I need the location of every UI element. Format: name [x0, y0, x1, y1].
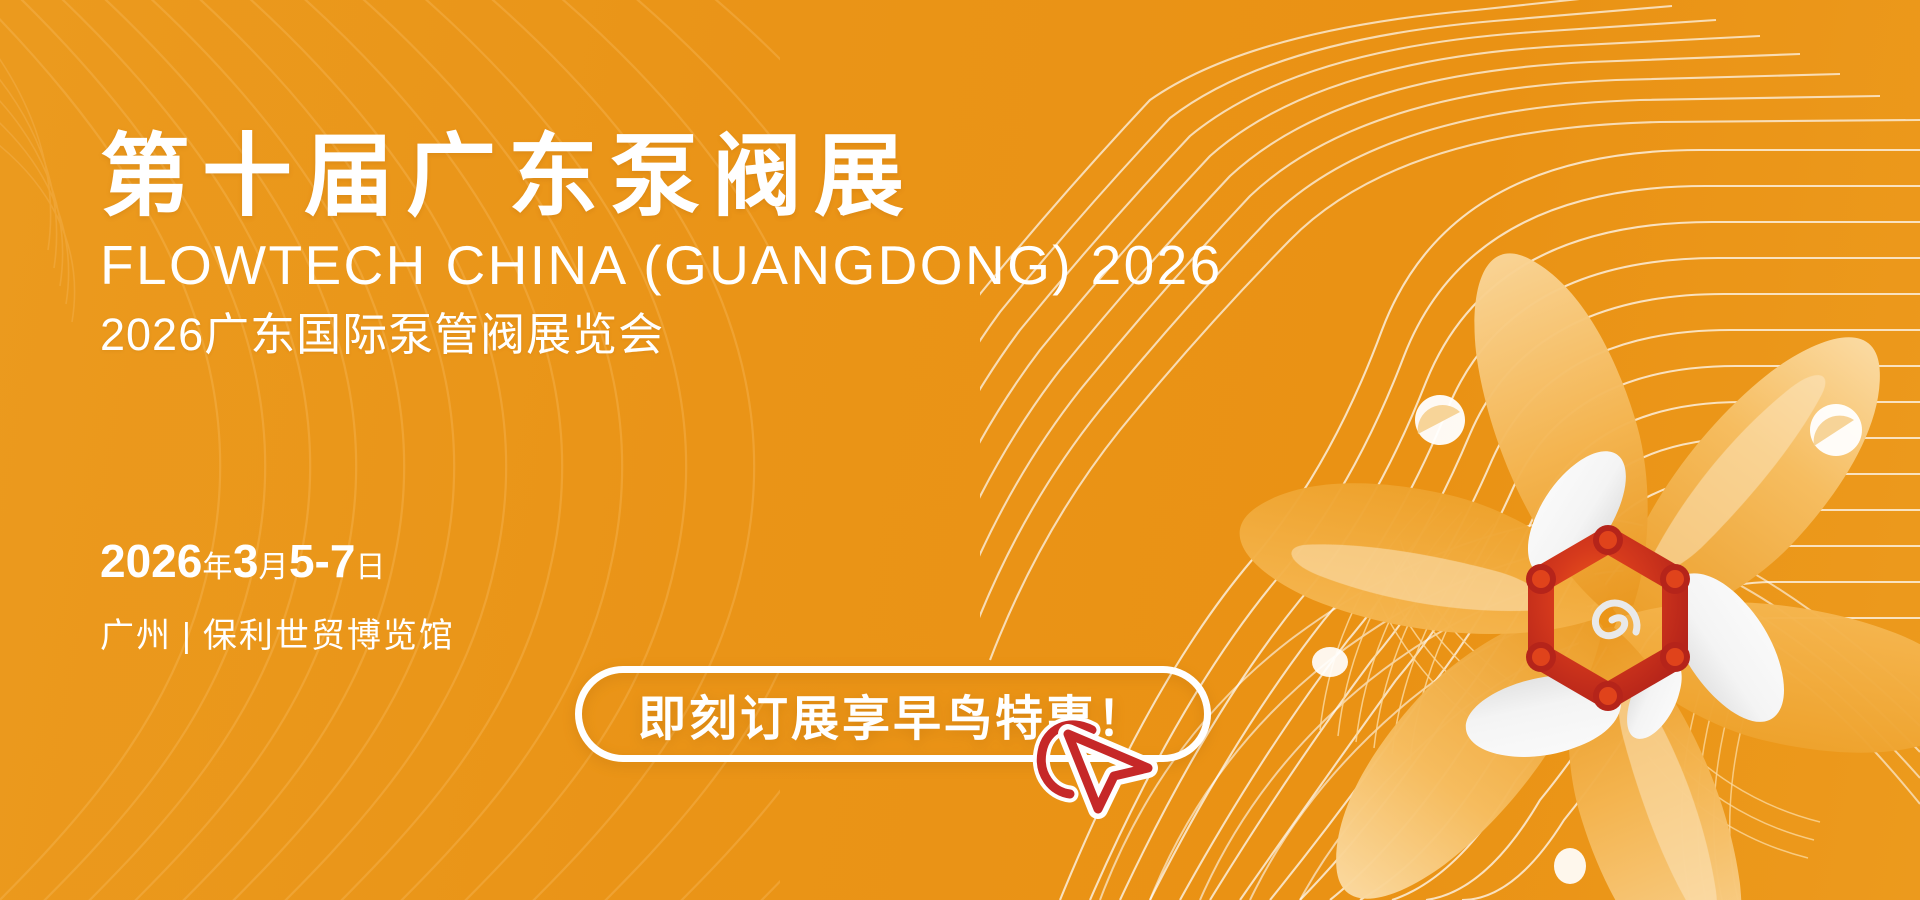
venue-city: 广州 — [100, 617, 172, 655]
date-month: 3 — [233, 535, 259, 587]
headline-block: 第十届广东泵阀展 FLOWTECH CHINA (GUANGDONG) 2026… — [100, 132, 1100, 360]
date-year-unit: 年 — [202, 551, 233, 584]
venue-separator: | — [172, 617, 203, 655]
date-days: 5-7 — [289, 535, 355, 587]
venue-name: 保利世贸博览馆 — [203, 617, 455, 655]
date-year: 2026 — [100, 535, 202, 587]
exhibition-promo-banner: 第十届广东泵阀展 FLOWTECH CHINA (GUANGDONG) 2026… — [0, 0, 1920, 900]
pinwheel-flower-graphic — [1228, 244, 1920, 900]
event-venue: 广州|保利世贸博览馆 — [100, 608, 455, 657]
date-month-unit: 月 — [258, 551, 289, 584]
event-date: 2026年3月5-7日 — [100, 535, 455, 588]
early-bird-booking-button[interactable]: 即刻订展享早鸟特惠！ — [575, 666, 1211, 762]
page-subtitle-cn: 2026广东国际泵管阀展览会 — [100, 310, 1100, 360]
page-title-cn: 第十届广东泵阀展 — [100, 132, 1100, 222]
cta-area: 即刻订展享早鸟特惠！ — [575, 666, 1211, 762]
page-title-en: FLOWTECH CHINA (GUANGDONG) 2026 — [100, 236, 1100, 294]
date-day-unit: 日 — [355, 551, 386, 584]
event-info-block: 2026年3月5-7日 广州|保利世贸博览馆 — [100, 535, 455, 657]
